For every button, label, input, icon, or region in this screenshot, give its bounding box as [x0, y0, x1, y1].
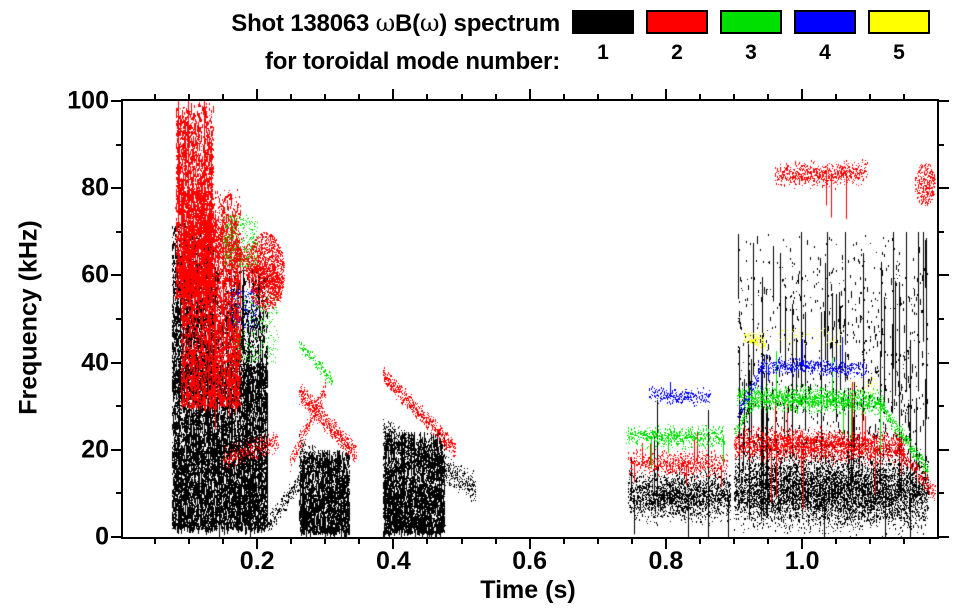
- legend-swatch-2: [646, 10, 708, 34]
- x-tick-minor-0.85-top: [699, 94, 701, 101]
- y-tick-major-60: [111, 274, 123, 276]
- legend-swatch-3: [720, 10, 782, 34]
- x-tick-minor-0.25-top: [290, 94, 292, 101]
- spectrogram-canvas: [123, 101, 937, 537]
- spectrogram-figure: Shot 138063 ωB(ω) spectrum for toroidal …: [0, 0, 963, 615]
- y-tick-minor-50-right: [937, 318, 944, 320]
- x-tick-minor-0.65-top: [563, 94, 565, 101]
- x-tick-major-0.20-top: [256, 89, 258, 101]
- title-spectrum-text: ) spectrum: [439, 10, 560, 37]
- x-tick-minor-1.05: [835, 537, 837, 544]
- legend-swatch-5: [868, 10, 930, 34]
- x-tick-minor-0.90: [733, 537, 735, 544]
- x-tick-minor-0.35: [358, 537, 360, 544]
- x-tick-minor-0.70-top: [597, 94, 599, 101]
- x-tick-minor-0.05: [154, 537, 156, 544]
- x-tick-minor-0.15: [222, 537, 224, 544]
- x-tick-minor-0.30-top: [324, 94, 326, 101]
- x-tick-minor-0.45-top: [426, 94, 428, 101]
- legend: 12345: [572, 10, 962, 86]
- y-tick-major-80: [111, 187, 123, 189]
- x-tick-major-0.60-top: [529, 89, 531, 101]
- x-tick-minor-0.15-top: [222, 94, 224, 101]
- y-tick-minor-30: [116, 405, 123, 407]
- y-tick-minor-70: [116, 231, 123, 233]
- y-tick-major-40: [111, 362, 123, 364]
- y-tick-major-60-right: [937, 274, 949, 276]
- y-tick-label-60: 60: [81, 261, 109, 290]
- x-tick-minor-1.05-top: [835, 94, 837, 101]
- x-tick-major-1.00-top: [801, 89, 803, 101]
- y-tick-major-100-right: [937, 100, 949, 102]
- legend-label-row: 12345: [572, 41, 962, 65]
- figure-title: Shot 138063 ωB(ω) spectrum for toroidal …: [0, 4, 560, 81]
- x-tick-minor-0.50: [461, 537, 463, 544]
- legend-swatch-4: [794, 10, 856, 34]
- title-b-open: B(: [395, 10, 420, 37]
- y-axis-title-text: Frequency (kHz): [15, 220, 44, 414]
- y-tick-major-40-right: [937, 362, 949, 364]
- plot-area: 0204060801000.20.40.60.81.0: [121, 99, 939, 539]
- y-tick-label-40: 40: [81, 348, 109, 377]
- y-axis-title: Frequency (kHz): [12, 99, 46, 535]
- title-shot-text: Shot 138063: [231, 10, 375, 37]
- x-tick-minor-0.35-top: [358, 94, 360, 101]
- x-tick-minor-0.95-top: [767, 94, 769, 101]
- x-tick-label-1.0: 1.0: [785, 547, 820, 576]
- x-tick-minor-0.95: [767, 537, 769, 544]
- x-tick-minor-0.90-top: [733, 94, 735, 101]
- y-tick-label-20: 20: [81, 435, 109, 464]
- y-tick-label-0: 0: [95, 523, 109, 552]
- y-tick-minor-70-right: [937, 231, 944, 233]
- y-tick-label-80: 80: [81, 174, 109, 203]
- y-tick-major-0-right: [937, 536, 949, 538]
- x-tick-minor-1.15: [903, 537, 905, 544]
- legend-swatch-1: [572, 10, 634, 34]
- x-tick-label-0.2: 0.2: [240, 547, 275, 576]
- x-tick-minor-0.55: [495, 537, 497, 544]
- legend-label-2: 2: [646, 41, 708, 65]
- y-tick-label-100: 100: [67, 87, 109, 116]
- y-tick-minor-30-right: [937, 405, 944, 407]
- y-tick-major-20: [111, 449, 123, 451]
- x-tick-minor-0.70: [597, 537, 599, 544]
- x-tick-minor-0.55-top: [495, 94, 497, 101]
- x-tick-minor-0.05-top: [154, 94, 156, 101]
- y-tick-major-100: [111, 100, 123, 102]
- x-tick-label-0.6: 0.6: [512, 547, 547, 576]
- legend-swatch-row: [572, 10, 962, 34]
- legend-label-3: 3: [720, 41, 782, 65]
- x-tick-major-0.80-top: [665, 89, 667, 101]
- x-tick-minor-0.10-top: [188, 94, 190, 101]
- x-tick-minor-0.25: [290, 537, 292, 544]
- legend-label-1: 1: [572, 41, 634, 65]
- x-tick-minor-1.15-top: [903, 94, 905, 101]
- x-tick-minor-0.85: [699, 537, 701, 544]
- title-line-2: for toroidal mode number:: [0, 43, 560, 81]
- x-tick-minor-0.75: [631, 537, 633, 544]
- x-tick-minor-1.10-top: [869, 94, 871, 101]
- x-tick-minor-0.75-top: [631, 94, 633, 101]
- x-tick-minor-1.10: [869, 537, 871, 544]
- x-tick-label-0.8: 0.8: [649, 547, 684, 576]
- x-tick-minor-0.50-top: [461, 94, 463, 101]
- y-tick-major-20-right: [937, 449, 949, 451]
- y-tick-minor-90-right: [937, 144, 944, 146]
- omega-symbol-2: ω: [420, 9, 439, 37]
- title-line-1: Shot 138063 ωB(ω) spectrum: [0, 4, 560, 43]
- x-tick-minor-0.65: [563, 537, 565, 544]
- x-tick-minor-0.45: [426, 537, 428, 544]
- x-tick-minor-0.10: [188, 537, 190, 544]
- y-tick-minor-10-right: [937, 492, 944, 494]
- x-tick-label-0.4: 0.4: [376, 547, 411, 576]
- legend-label-4: 4: [794, 41, 856, 65]
- x-tick-major-0.40-top: [392, 89, 394, 101]
- y-tick-major-80-right: [937, 187, 949, 189]
- y-tick-major-0: [111, 536, 123, 538]
- x-axis-title: Time (s): [121, 576, 935, 605]
- y-tick-minor-10: [116, 492, 123, 494]
- y-tick-minor-50: [116, 318, 123, 320]
- x-tick-minor-0.30: [324, 537, 326, 544]
- omega-symbol-1: ω: [376, 9, 395, 37]
- y-tick-minor-90: [116, 144, 123, 146]
- legend-label-5: 5: [868, 41, 930, 65]
